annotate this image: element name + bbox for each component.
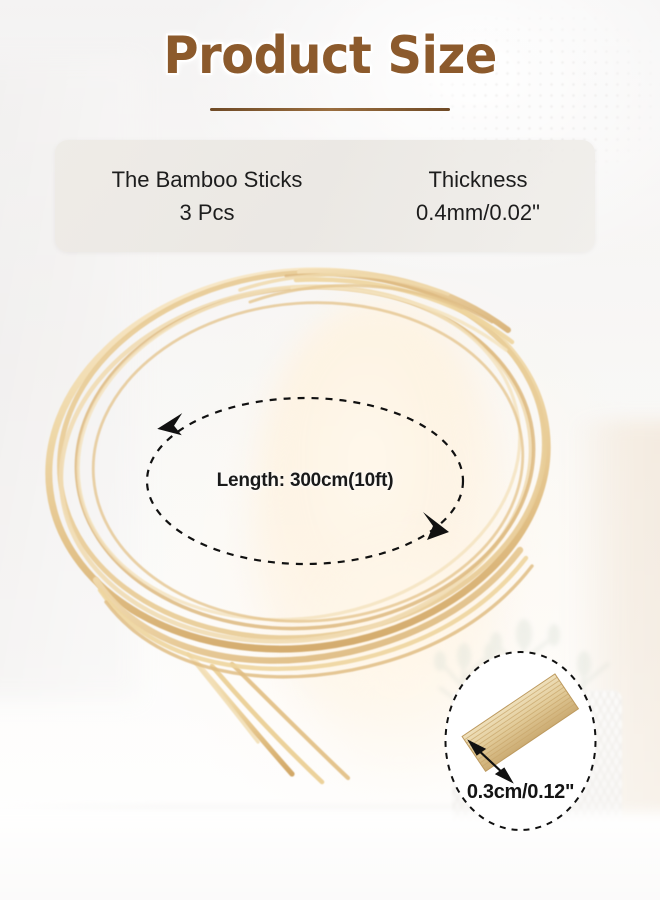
length-dashed-ring	[147, 398, 463, 564]
page-title: Product Size	[0, 26, 660, 86]
spec-box: The Bamboo Sticks 3 Pcs Thickness 0.4mm/…	[55, 140, 595, 252]
spec-label-thickness: Thickness	[428, 165, 527, 194]
page-title-text: Product Size	[163, 26, 496, 86]
spec-column-thickness: Thickness 0.4mm/0.02"	[361, 140, 595, 252]
length-callout-ellipse	[140, 392, 470, 570]
spec-column-bamboo-sticks: The Bamboo Sticks 3 Pcs	[55, 140, 359, 252]
length-arrowhead-right	[423, 512, 449, 540]
thickness-inset	[443, 650, 598, 832]
title-underline	[210, 108, 450, 111]
product-size-infographic: Product Size The Bamboo Sticks 3 Pcs Thi…	[0, 0, 660, 900]
length-arrowhead-left	[156, 413, 183, 437]
spec-label-bamboo-sticks: The Bamboo Sticks	[112, 165, 303, 194]
spec-value-thickness: 0.4mm/0.02"	[416, 198, 540, 227]
spec-value-piece-count: 3 Pcs	[179, 198, 234, 227]
